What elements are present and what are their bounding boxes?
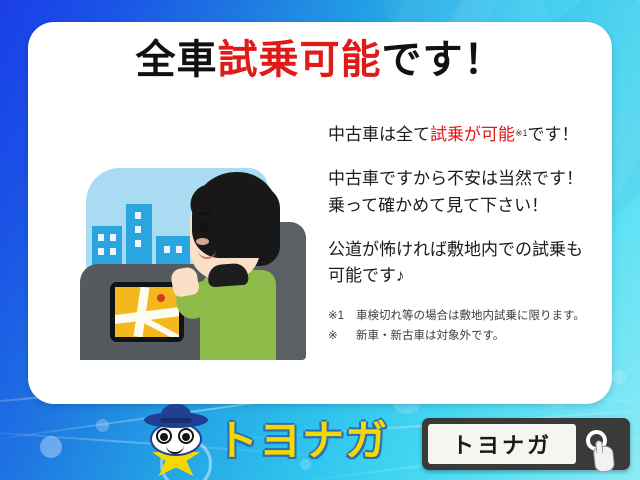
window-shape <box>135 226 141 233</box>
copy-line-2: 中古車ですから不安は当然です！ <box>328 166 628 192</box>
body-copy: 中古車は全て試乗が可能※1です！ 中古車ですから不安は当然です！ 乗って確かめて… <box>328 122 628 346</box>
copy-line-1-b: です！ <box>528 125 579 144</box>
mascot-pupil <box>182 433 190 441</box>
copy-line-1: 中古車は全て試乗が可能※1です！ <box>328 122 628 148</box>
mascot-pupil <box>160 433 168 441</box>
driver-cheek <box>196 238 209 245</box>
window-shape <box>98 234 104 241</box>
search-widget[interactable]: トヨナガ <box>422 418 630 470</box>
page-title: 全車試乗可能です！ <box>28 38 612 82</box>
footnote-2-text: 新車・新古車は対象外です。 <box>356 330 504 342</box>
toyonaga-star-mascot <box>142 406 210 476</box>
navigation-map <box>115 287 179 337</box>
brand-logo[interactable]: トヨナガ <box>142 406 388 476</box>
window-shape <box>110 248 116 255</box>
footnote-1: ※1車検切れ等の場合は敷地内試乗に限ります。 <box>328 306 628 326</box>
window-shape <box>176 246 182 253</box>
window-shape <box>135 212 141 219</box>
headline-part-3: です！ <box>382 38 505 82</box>
window-shape <box>135 240 141 247</box>
copy-line-1-a: 中古車は全て <box>328 125 430 144</box>
map-location-marker-icon <box>157 294 165 302</box>
advertisement-banner: 全車試乗可能です！ <box>0 0 640 480</box>
mascot-eye-right <box>178 428 194 444</box>
spacer <box>328 148 628 166</box>
search-input[interactable]: トヨナガ <box>428 424 576 464</box>
footnote-2: ※新車・新古車は対象外です。 <box>328 326 628 346</box>
footnote-2-mark: ※ <box>328 326 356 346</box>
headline-highlight: 試乗可能 <box>218 38 382 82</box>
bokeh-dot <box>612 370 626 384</box>
search-button[interactable] <box>576 424 624 464</box>
hand-cursor-icon <box>593 445 616 473</box>
footnote-1-text: 車検切れ等の場合は敷地内試乗に限ります。 <box>356 310 585 322</box>
spacer <box>328 219 628 237</box>
copy-line-4: 公道が怖ければ敷地内での試乗も <box>328 237 628 263</box>
copy-line-3: 乗って確かめて見て下さい！ <box>328 193 628 219</box>
map-road <box>142 317 179 337</box>
brand-name: トヨナガ <box>216 420 388 462</box>
mascot-eye-left <box>156 428 172 444</box>
headline-part-1: 全車 <box>136 38 218 82</box>
driver-collar <box>207 263 248 288</box>
window-shape <box>164 246 170 253</box>
spacer <box>328 290 628 306</box>
bokeh-dot <box>96 419 109 432</box>
mascot-hat-band <box>160 418 192 423</box>
window-shape <box>110 234 116 241</box>
driver-in-car-illustration <box>80 160 326 360</box>
driver-eye <box>200 222 209 233</box>
bokeh-dot <box>40 436 62 458</box>
footnote-1-mark: ※1 <box>328 306 356 326</box>
building-shape <box>126 204 152 270</box>
copy-line-5: 可能です♪ <box>328 263 628 289</box>
window-shape <box>98 248 104 255</box>
footnote-ref: ※1 <box>515 128 528 138</box>
copy-line-1-highlight: 試乗が可能 <box>430 125 515 144</box>
content-card: 全車試乗可能です！ <box>28 22 612 404</box>
